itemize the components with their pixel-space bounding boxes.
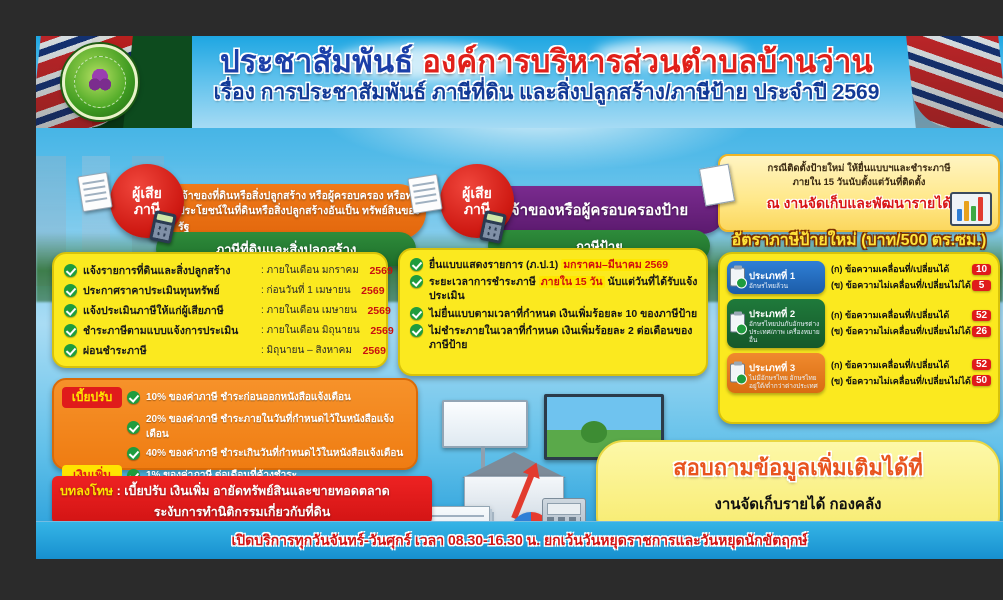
header-band: ประชาสัมพันธ์ องค์การบริหารส่วนตำบลบ้านว…: [36, 36, 1003, 128]
penalty-panel: เบี้ยปรับ 10% ของค่าภาษี ชำระก่อนออกหนัง…: [52, 378, 418, 470]
rate-value: 50: [972, 375, 991, 386]
poster-canvas: ประชาสัมพันธ์ องค์การบริหารส่วนตำบลบ้านว…: [36, 36, 1003, 559]
sign-tax-rate-table: ประเภทที่ 1 อักษรไทยล้วน (ก) ข้อความเคลื…: [718, 252, 1000, 424]
list-item: 20% ของค่าภาษี ชำระภายในวันที่กำหนดไว้ใน…: [62, 412, 406, 442]
clipboard-check-icon: [730, 268, 745, 287]
contact-heading: สอบถามข้อมูลเพิ่มเติมได้ที่: [598, 450, 998, 485]
rate-line: (ก) ข้อความเคลื่อนที่/เปลี่ยนได้ 10: [831, 262, 991, 276]
list-item: ระยะเวลาการชำระภาษี ภายใน 15 วัน นับแต่ว…: [410, 275, 698, 303]
table-row: ประเภทที่ 1 อักษรไทยล้วน (ก) ข้อความเคลื…: [727, 261, 991, 294]
clipboard-check-icon: [730, 314, 745, 333]
sign-tax-schedule-panel: ยื่นแบบแสดงรายการ (ภ.ป.1) มกราคม–มีนาคม …: [398, 248, 708, 376]
penalty-fine-tag: เบี้ยปรับ: [62, 387, 122, 408]
rate-desc: (ก) ข้อความเคลื่อนที่/เปลี่ยนได้: [831, 308, 949, 322]
spacer: [62, 453, 122, 455]
check-icon: [410, 307, 423, 320]
check-icon: [410, 258, 423, 271]
table-row: ประเภทที่ 2 อักษรไทยปนกับอักษรต่างประเทศ…: [727, 299, 991, 348]
rate-desc: (ข) ข้อความไม่เคลื่อนที่/เปลี่ยนไม่ได้: [831, 278, 971, 292]
thai-flag-ribbon-right: [906, 36, 1003, 128]
rate-value: 26: [972, 326, 991, 337]
schedule-when: : ภายในเดือน เมษายน: [261, 303, 357, 318]
sign-badge-line1: ผู้เสีย: [462, 185, 492, 201]
document-icon: [77, 172, 112, 212]
rate-line: (ข) ข้อความไม่เคลื่อนที่/เปลี่ยนไม่ได้ 2…: [831, 324, 991, 338]
rate-type-title: ประเภทที่ 1: [749, 271, 795, 282]
rate-desc: (ข) ข้อความไม่เคลื่อนที่/เปลี่ยนไม่ได้: [831, 374, 971, 388]
title-block: ประชาสัมพันธ์ องค์การบริหารส่วนตำบลบ้านว…: [186, 46, 907, 103]
rate-value: 52: [972, 310, 991, 321]
rate-table-title: อัตราภาษีป้ายใหม่ (บาท/500 ตร.ซม.): [718, 228, 1000, 253]
rate-type-tag: ประเภทที่ 3 ไม่มีอักษรไทย อักษรไทยอยู่ใต…: [727, 353, 825, 394]
schedule-year: 2569: [352, 345, 386, 357]
schedule-when: : มิถุนายน – สิงหาคม: [261, 343, 352, 358]
land-tax-schedule-panel: แจ้งรายการที่ดินและสิ่งปลูกสร้าง : ภายใน…: [52, 252, 388, 368]
check-icon: [64, 344, 77, 357]
table-row: ประเภทที่ 3 ไม่มีอักษรไทย อักษรไทยอยู่ใต…: [727, 353, 991, 394]
notice-line-1: กรณีติดตั้งป้ายใหม่ ให้ยื่นแบบฯและชำระภา…: [728, 162, 990, 176]
sign-rule-text: ระยะเวลาการชำระภาษี ภายใน 15 วัน นับแต่ว…: [429, 275, 698, 303]
rate-line: (ก) ข้อความเคลื่อนที่/เปลี่ยนได้ 52: [831, 308, 991, 322]
check-icon: [64, 304, 77, 317]
punishment-line-1: บทลงโทษ : เบี้ยปรับ เงินเพิ่ม อายัดทรัพย…: [60, 481, 424, 501]
table-row: ผ่อนชำระภาษี : มิถุนายน – สิงหาคม 2569: [64, 342, 376, 359]
rate-desc: (ข) ข้อความไม่เคลื่อนที่/เปลี่ยนไม่ได้: [831, 324, 971, 338]
bar-chart-icon: [950, 192, 992, 226]
paper-icon: [699, 164, 735, 207]
rate-type-sub: ไม่มีอักษรไทย อักษรไทยอยู่ใต้/ต่ำกว่าต่า…: [749, 375, 821, 391]
list-item: ไม่ชำระภายในเวลาที่กำหนด เงินเพิ่มร้อยละ…: [410, 324, 698, 352]
schedule-label: ประกาศราคาประเมินทุนทรัพย์: [83, 282, 261, 299]
rate-line: (ข) ข้อความไม่เคลื่อนที่/เปลี่ยนไม่ได้ 5…: [831, 374, 991, 388]
check-icon: [127, 391, 140, 404]
list-item: ไม่ยื่นแบบตามเวลาที่กำหนด เงินเพิ่มร้อยล…: [410, 307, 698, 321]
organization-logo: [62, 44, 138, 120]
spacer: [62, 426, 122, 428]
schedule-year: 2569: [351, 285, 385, 297]
rate-type-sub: อักษรไทยล้วน: [749, 283, 795, 291]
check-icon: [64, 284, 77, 297]
sign-rule-text: ไม่ยื่นแบบตามเวลาที่กำหนด เงินเพิ่มร้อยล…: [429, 307, 697, 321]
notice-line-2: ภายใน 15 วันนับตั้งแต่วันที่ติดตั้ง: [728, 176, 990, 190]
schedule-label: แจ้งประเมินภาษีให้แก่ผู้เสียภาษี: [83, 302, 261, 319]
logo-emblem: [74, 56, 126, 108]
list-item: ยื่นแบบแสดงรายการ (ภ.ป.1) มกราคม–มีนาคม …: [410, 258, 698, 272]
schedule-year: 2569: [357, 305, 391, 317]
check-icon: [410, 324, 423, 337]
check-icon: [127, 421, 140, 434]
check-icon: [64, 324, 77, 337]
rate-type-tag: ประเภทที่ 2 อักษรไทยปนกับอักษรต่างประเทศ…: [727, 299, 825, 348]
penalty-text: 20% ของค่าภาษี ชำระภายในวันที่กำหนดไว้ใน…: [146, 412, 406, 442]
list-item: เบี้ยปรับ 10% ของค่าภาษี ชำระก่อนออกหนัง…: [62, 387, 406, 408]
schedule-when: : ภายในเดือน มิถุนายน: [261, 323, 360, 338]
title-red-part: องค์การบริหารส่วนตำบลบ้านว่าน: [422, 44, 873, 79]
rate-desc: (ก) ข้อความเคลื่อนที่/เปลี่ยนได้: [831, 262, 949, 276]
check-icon: [410, 275, 423, 288]
check-icon: [64, 264, 77, 277]
document-icon: [407, 174, 442, 214]
rate-value: 5: [972, 280, 991, 291]
schedule-when: : ก่อนวันที่ 1 เมษายน: [261, 283, 351, 298]
punishment-detail: : เบี้ยปรับ เงินเพิ่ม อายัดทรัพย์สินและข…: [113, 484, 390, 498]
title-blue-part: ประชาสัมพันธ์: [220, 44, 413, 79]
rate-value: 10: [972, 264, 991, 275]
new-sign-notice-box: กรณีติดตั้งป้ายใหม่ ให้ยื่นแบบฯและชำระภา…: [718, 154, 1000, 232]
schedule-label: ชำระภาษีตามแบบแจ้งการประเมิน: [83, 322, 261, 339]
contact-department: งานจัดเก็บรายได้ กองคลัง: [598, 492, 998, 516]
table-row: ชำระภาษีตามแบบแจ้งการประเมิน : ภายในเดือ…: [64, 322, 376, 339]
service-hours-text: เปิดบริการทุกวันจันทร์-วันศุกร์ เวลา 08.…: [231, 530, 807, 552]
rate-desc: (ก) ข้อความเคลื่อนที่/เปลี่ยนได้: [831, 358, 949, 372]
blank-billboard-icon: [442, 400, 528, 448]
sign-rule-text: ยื่นแบบแสดงรายการ (ภ.ป.1) มกราคม–มีนาคม …: [429, 258, 670, 272]
page-subtitle: เรื่อง การประชาสัมพันธ์ ภาษีที่ดิน และสิ…: [186, 82, 907, 103]
rate-type-title: ประเภทที่ 2: [749, 309, 795, 320]
table-row: ประกาศราคาประเมินทุนทรัพย์ : ก่อนวันที่ …: [64, 282, 376, 299]
table-row: แจ้งประเมินภาษีให้แก่ผู้เสียภาษี : ภายใน…: [64, 302, 376, 319]
rate-type-sub: อักษรไทยปนกับอักษรต่างประเทศ/ภาพ เครื่อง…: [749, 321, 821, 344]
rate-line: (ก) ข้อความเคลื่อนที่/เปลี่ยนได้ 52: [831, 358, 991, 372]
house-roof-icon: [462, 452, 566, 478]
schedule-when: : ภายในเดือน มกราคม: [261, 263, 359, 278]
schedule-label: ผ่อนชำระภาษี: [83, 342, 261, 359]
footer-band: เปิดบริการทุกวันจันทร์-วันศุกร์ เวลา 08.…: [36, 521, 1003, 559]
punishment-band: บทลงโทษ : เบี้ยปรับ เงินเพิ่ม อายัดทรัพย…: [52, 476, 432, 524]
penalty-text: 40% ของค่าภาษี ชำระเกินวันที่กำหนดไว้ในห…: [146, 446, 403, 461]
schedule-label: แจ้งรายการที่ดินและสิ่งปลูกสร้าง: [83, 262, 261, 279]
land-badge-line1: ผู้เสีย: [132, 185, 162, 201]
punishment-line-2: ระงับการทำนิติกรรมเกี่ยวกับที่ดิน: [60, 502, 424, 522]
rate-value: 52: [972, 359, 991, 370]
clipboard-check-icon: [730, 363, 745, 382]
table-row: แจ้งรายการที่ดินและสิ่งปลูกสร้าง : ภายใน…: [64, 262, 376, 279]
rate-type-title: ประเภทที่ 3: [749, 363, 795, 374]
page-title: ประชาสัมพันธ์ องค์การบริหารส่วนตำบลบ้านว…: [186, 46, 907, 77]
check-icon: [127, 447, 140, 460]
penalty-text: 10% ของค่าภาษี ชำระก่อนออกหนังสือแจ้งเตื…: [146, 390, 351, 405]
punishment-keyword: บทลงโทษ: [60, 484, 113, 498]
list-item: 40% ของค่าภาษี ชำระเกินวันที่กำหนดไว้ในห…: [62, 446, 406, 461]
rate-type-tag: ประเภทที่ 1 อักษรไทยล้วน: [727, 261, 825, 294]
schedule-year: 2569: [359, 265, 393, 277]
sign-rule-text: ไม่ชำระภายในเวลาที่กำหนด เงินเพิ่มร้อยละ…: [429, 324, 698, 352]
rate-line: (ข) ข้อความไม่เคลื่อนที่/เปลี่ยนไม่ได้ 5: [831, 278, 991, 292]
schedule-year: 2569: [360, 325, 394, 337]
